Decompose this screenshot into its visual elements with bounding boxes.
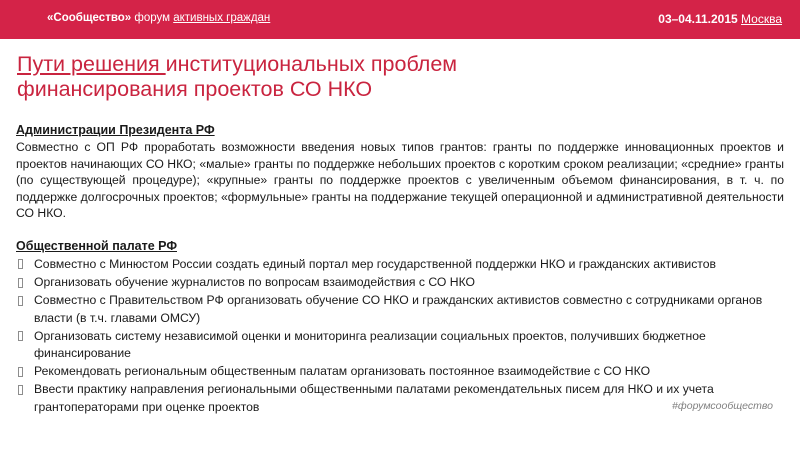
bullet-box-icon <box>18 331 23 341</box>
recommendations-list: Совместно с Минюстом России создать един… <box>16 256 784 416</box>
header-date: 03–04.11.2015 <box>658 12 741 26</box>
header-brand-underlined: активных граждан <box>173 12 270 24</box>
list-item-text: Рекомендовать региональным общественным … <box>34 363 784 380</box>
bullet-box-icon <box>18 385 23 395</box>
list-item-text: Организовать обучение журналистов по воп… <box>34 274 784 291</box>
list-item: Организовать обучение журналистов по воп… <box>16 274 784 291</box>
section-heading-administration: Администрации Президента РФ <box>16 122 784 138</box>
list-item-text: Совместно с Минюстом России создать един… <box>34 256 784 273</box>
list-item-text: Совместно с Правительством РФ организова… <box>34 292 784 326</box>
header-date-location: 03–04.11.2015 Москва <box>658 12 782 26</box>
section-heading-public-chamber: Общественной палате РФ <box>16 238 784 254</box>
list-item: Совместно с Правительством РФ организова… <box>16 292 784 326</box>
bullet-box-icon <box>18 259 23 269</box>
section-spacer <box>16 222 784 238</box>
list-item: Организовать систему независимой оценки … <box>16 328 784 362</box>
slide: «Сообщество» форум активных граждан 03–0… <box>0 0 800 450</box>
bullet-box-icon <box>18 278 23 288</box>
slide-title-underlined: Пути решения <box>17 52 166 76</box>
list-item: Ввести практику направления региональным… <box>16 381 784 415</box>
bullet-box-icon <box>18 296 23 306</box>
slide-title: Пути решения институциональных проблемфи… <box>17 52 617 102</box>
header-brand-suffix: форум <box>131 12 173 24</box>
section-paragraph-administration: Совместно с ОП РФ проработать возможност… <box>16 139 784 222</box>
header-brand: «Сообщество» <box>47 12 131 24</box>
slide-title-rest: институциональных проблем <box>166 52 457 76</box>
list-item: Совместно с Минюстом России создать един… <box>16 256 784 273</box>
header-city: Москва <box>741 12 782 26</box>
bullet-box-icon <box>18 367 23 377</box>
slide-content: Администрации Президента РФ Совместно с … <box>16 122 784 417</box>
slide-title-line2: финансирования проектов СО НКО <box>17 77 372 101</box>
footer-hashtag: #форумсообщество <box>672 400 773 412</box>
header-band: «Сообщество» форум активных граждан 03–0… <box>0 0 800 39</box>
list-item: Рекомендовать региональным общественным … <box>16 363 784 380</box>
header-event-title: «Сообщество» форум активных граждан <box>47 12 270 24</box>
list-item-text: Организовать систему независимой оценки … <box>34 328 784 362</box>
